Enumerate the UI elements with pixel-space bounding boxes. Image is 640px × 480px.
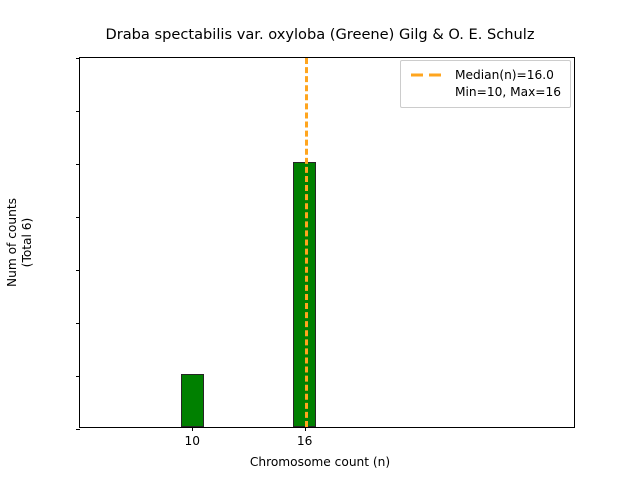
x-axis-label: Chromosome count (n) xyxy=(0,455,640,469)
y-axis-label: Num of counts (Total 6) xyxy=(0,57,40,428)
chart-figure: Draba spectabilis var. oxyloba (Greene) … xyxy=(0,0,640,480)
y-tick-mark xyxy=(76,376,80,377)
legend-entry-median: Median(n)=16.0 xyxy=(410,68,561,82)
chart-legend: Median(n)=16.0 Min=10, Max=16 xyxy=(400,60,571,108)
x-tick-label: 16 xyxy=(297,434,313,448)
bar xyxy=(181,374,204,427)
dashed-line-icon xyxy=(410,69,446,81)
y-axis-label-line2: (Total 6) xyxy=(20,218,35,268)
y-tick-mark xyxy=(76,164,80,165)
median-line xyxy=(305,58,308,427)
plot-area: 012345671016 xyxy=(79,57,575,428)
y-tick-mark xyxy=(76,323,80,324)
y-tick-mark xyxy=(76,270,80,271)
chart-title: Draba spectabilis var. oxyloba (Greene) … xyxy=(0,26,640,43)
legend-entry-minmax-label: Min=10, Max=16 xyxy=(455,85,561,99)
y-tick-mark xyxy=(76,217,80,218)
y-axis-label-line1: Num of counts xyxy=(5,198,20,287)
legend-entry-median-label: Median(n)=16.0 xyxy=(455,68,554,82)
plot-inner: 012345671016 xyxy=(80,58,574,427)
legend-entry-minmax: Min=10, Max=16 xyxy=(410,85,561,99)
x-tick-mark xyxy=(192,427,193,431)
x-tick-label: 10 xyxy=(185,434,201,448)
y-tick-mark xyxy=(76,429,80,430)
y-tick-mark xyxy=(76,111,80,112)
y-tick-mark xyxy=(76,58,80,59)
x-tick-mark xyxy=(305,427,306,431)
